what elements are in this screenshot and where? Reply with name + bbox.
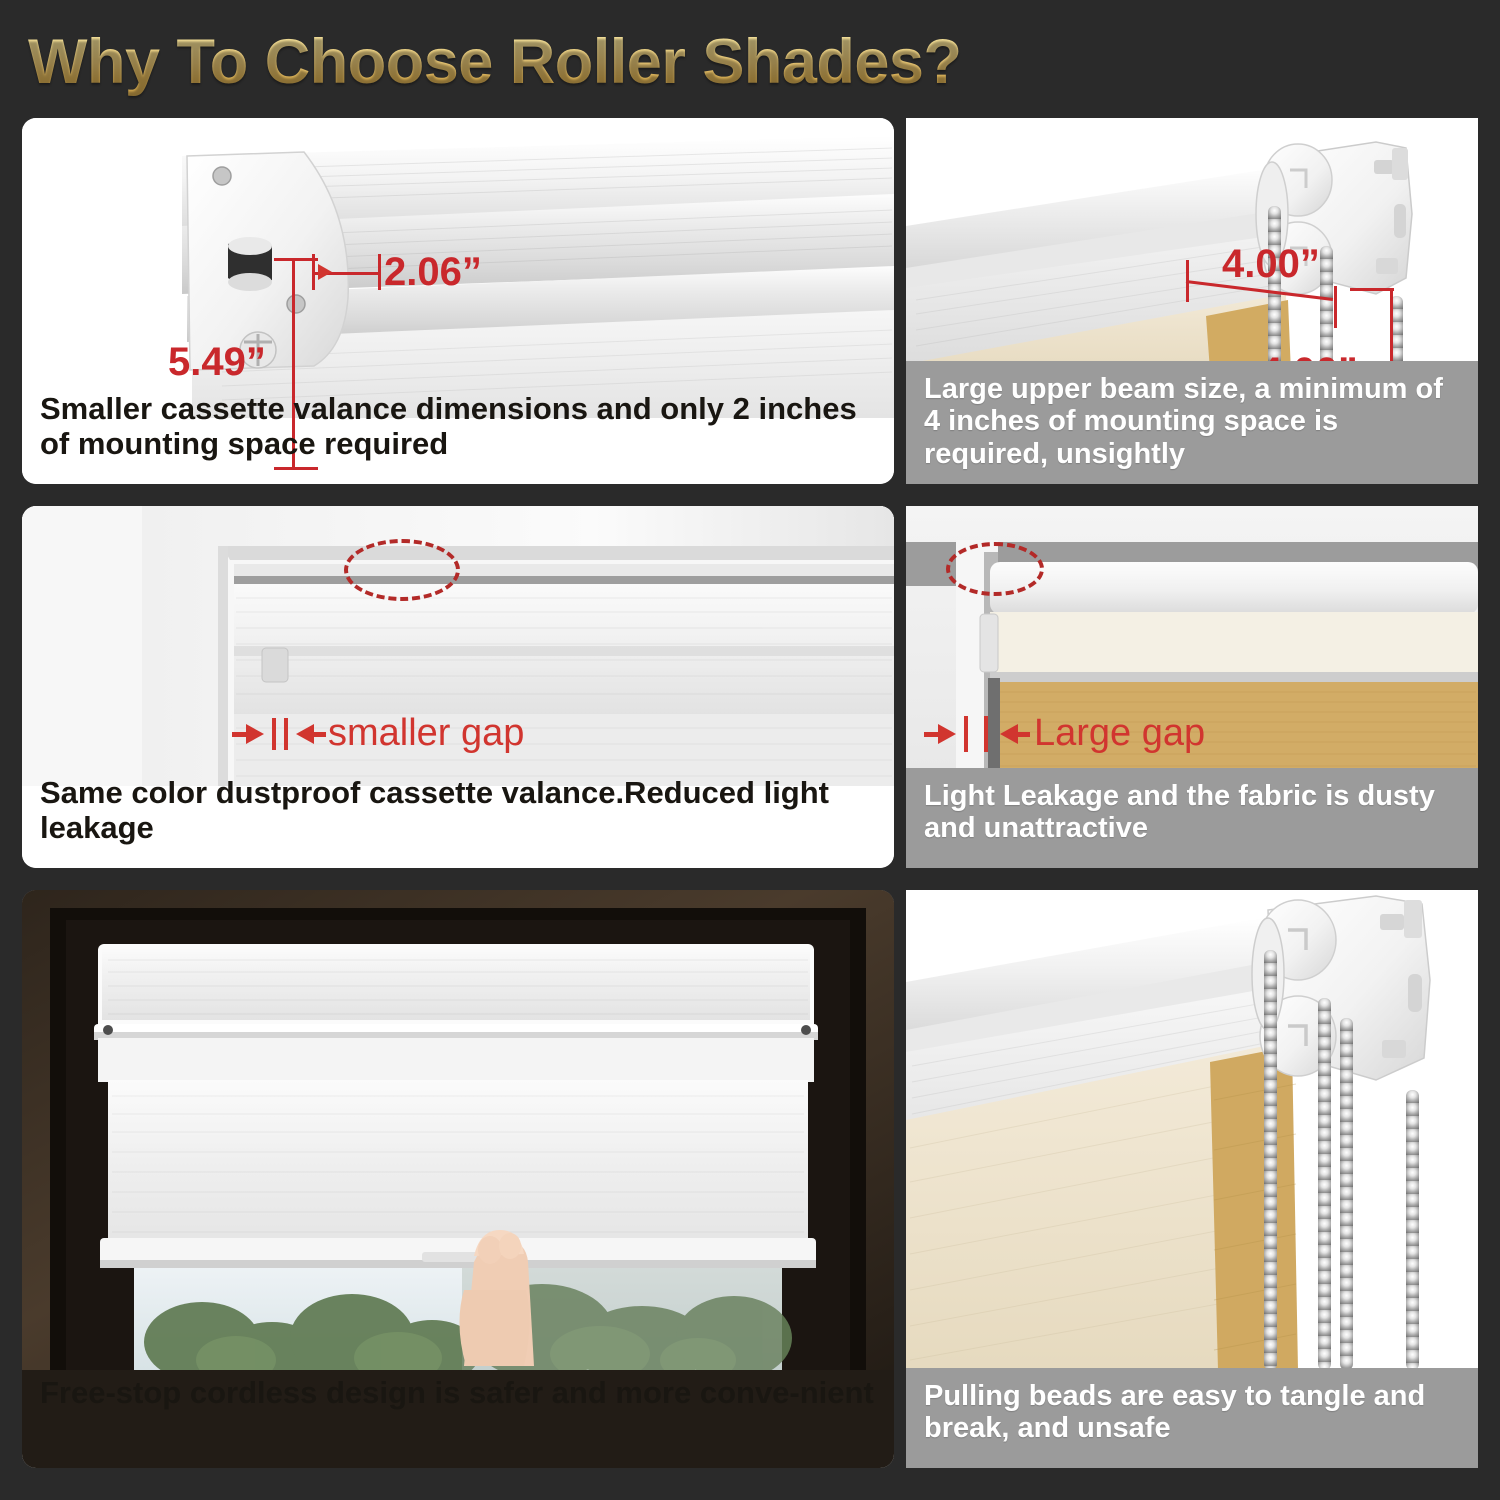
panel-dustproof-valance: smaller gap Same color dustproof cassett…	[22, 506, 894, 868]
gap-arrow-left-tail	[232, 732, 248, 737]
caption-cassette-dimensions: Smaller cassette valance dimensions and …	[22, 380, 894, 484]
caption-light-leakage: Light Leakage and the fabric is dusty an…	[906, 768, 1478, 868]
page-title: Why To Choose Roller Shades?	[28, 26, 961, 98]
dim-label-width: 2.06”	[384, 250, 482, 295]
bead-chain-front-right	[1318, 998, 1331, 1370]
caption-large-beam: Large upper beam size, a minimum of 4 in…	[906, 361, 1478, 484]
large-gap-arrow-left	[938, 724, 956, 744]
dim-tick-v-top	[274, 258, 318, 261]
seam-highlight-ellipse	[344, 539, 460, 601]
dim-label-beam-width: 4.00”	[1222, 242, 1320, 287]
dim-tick-depth-top	[1350, 288, 1394, 291]
large-gap-bar-left	[964, 716, 968, 752]
gap-highlight-ellipse	[946, 542, 1044, 596]
bead-chain-rear	[1340, 1018, 1353, 1370]
caption-dustproof-valance: Same color dustproof cassette valance.Re…	[22, 764, 894, 868]
panel-light-leakage: Large gap Light Leakage and the fabric i…	[906, 506, 1478, 868]
large-gap-arrow-right-tail	[1016, 732, 1030, 737]
panel-pulling-beads: Pulling beads are easy to tangle and bre…	[906, 890, 1478, 1468]
gap-arrow-left	[246, 724, 264, 744]
large-gap-arrow-left-tail	[924, 732, 940, 737]
panel-large-beam: 4.00” 4.00” Large upper beam size, a min…	[906, 118, 1478, 484]
dim-tick-beam-right	[1334, 286, 1337, 328]
gap-label-smaller: smaller gap	[328, 712, 524, 755]
caption-cordless-design: Free-stop cordless design is safer and m…	[22, 1364, 894, 1468]
large-gap-bar-right	[984, 716, 988, 752]
title-bar: Why To Choose Roller Shades?	[28, 18, 1068, 106]
pulling-beads-illustration	[906, 890, 1478, 1370]
window-room-scene-illustration	[22, 890, 894, 1370]
caption-pulling-beads: Pulling beads are easy to tangle and bre…	[906, 1368, 1478, 1468]
gap-label-large: Large gap	[1034, 712, 1205, 755]
panel-cassette-dimensions: 2.06” 5.49” Smaller cassette valance dim…	[22, 118, 894, 484]
gap-arrow-right-tail	[312, 732, 326, 737]
bead-chain-front-left	[1264, 950, 1277, 1370]
panel-cordless-design: Free-stop cordless design is safer and m…	[22, 890, 894, 1468]
gap-bar-left	[272, 718, 276, 750]
dim-label-height: 5.49”	[168, 340, 266, 385]
dim-arrow-width	[318, 264, 332, 280]
gap-bar-right	[284, 718, 288, 750]
bead-chain-loose	[1406, 1090, 1419, 1370]
